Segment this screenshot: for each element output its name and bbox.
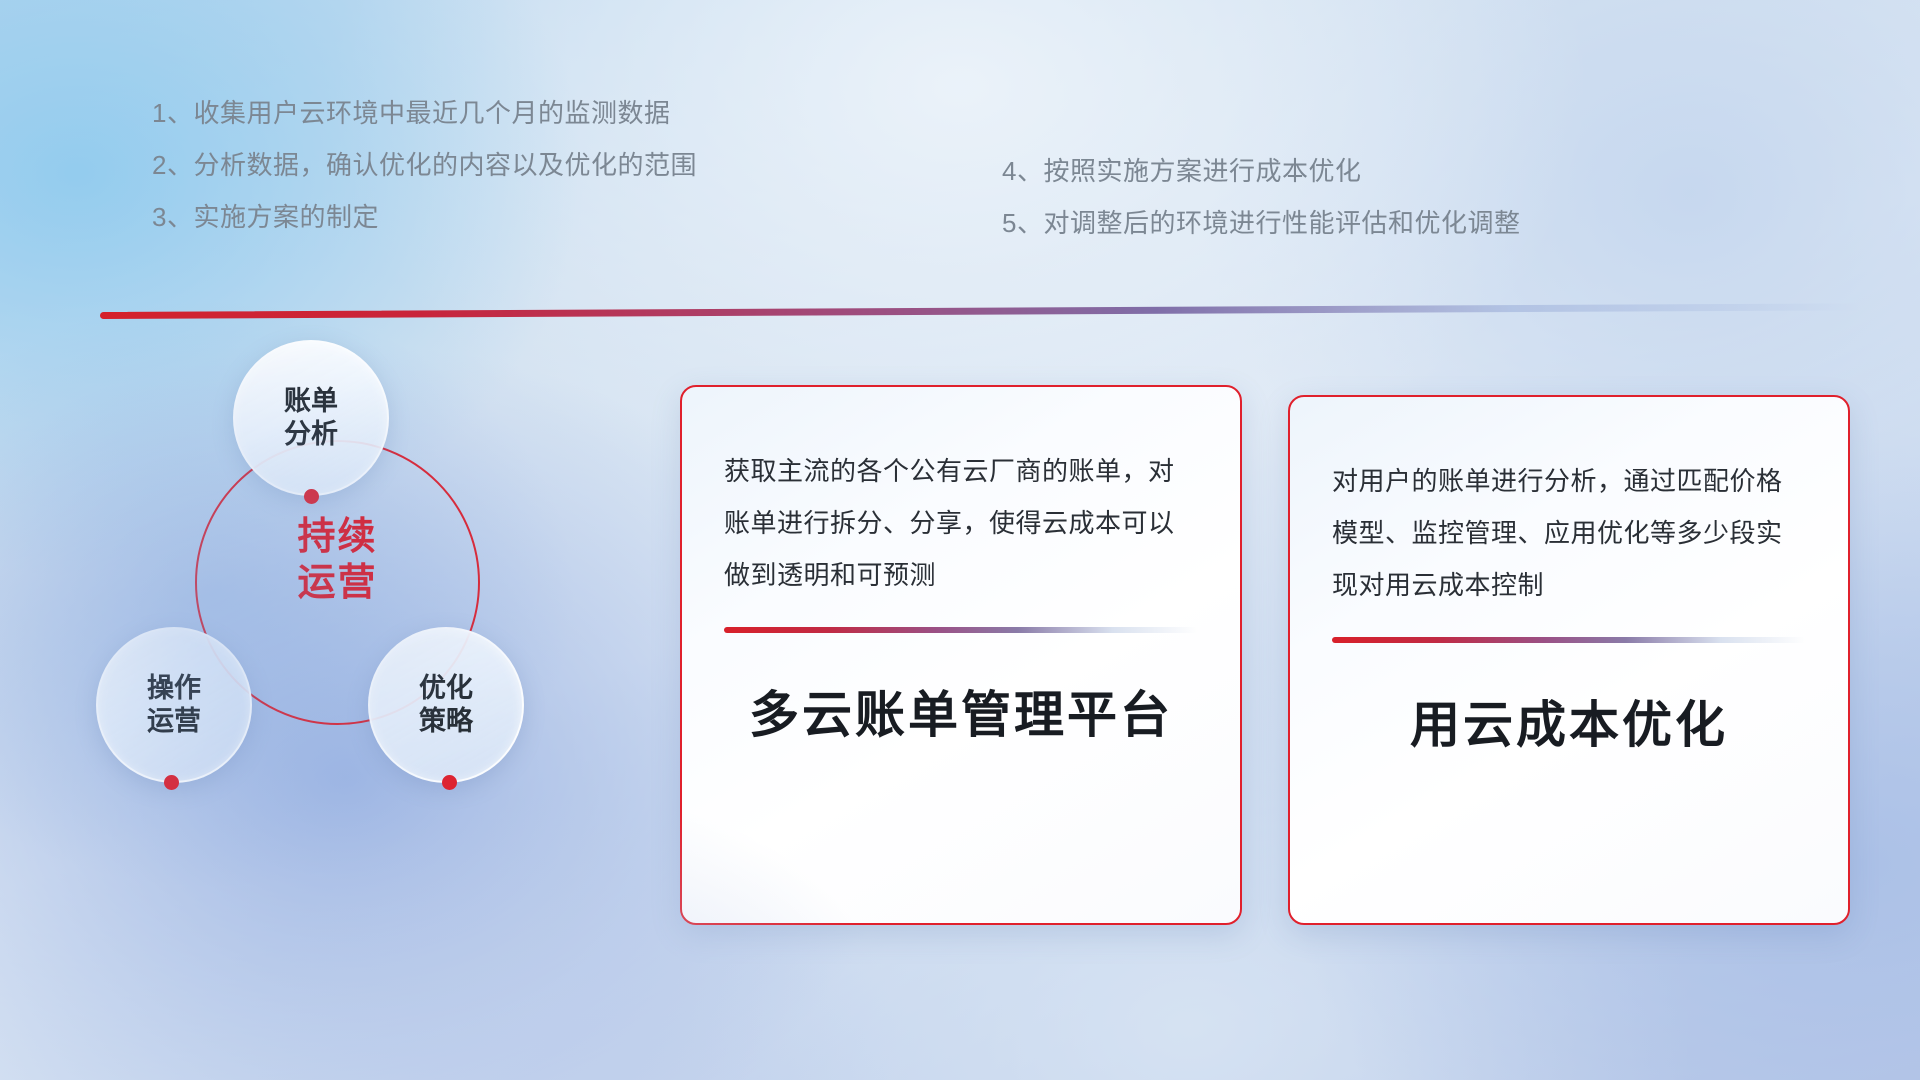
- venn-bubble-right-line-1: 优化: [419, 672, 473, 705]
- feature-card-1-rule: [724, 627, 1198, 633]
- steps-list-right: 4、按照实施方案进行成本优化 5、对调整后的环境进行性能评估和优化调整: [1002, 158, 1520, 262]
- continuous-operation-venn-diagram: 持续 运营 账单 分析 操作 运营 优化 策略: [90, 340, 560, 800]
- venn-node-dot-top-icon: [304, 489, 319, 504]
- section-divider-rule: [100, 303, 1860, 319]
- venn-bubble-left-line-1: 操作: [147, 672, 201, 705]
- feature-card-2-rule: [1332, 637, 1806, 643]
- venn-center-label: 持续 运营: [195, 515, 480, 606]
- step-item-1: 1、收集用户云环境中最近几个月的监测数据: [152, 100, 697, 126]
- venn-bubble-left-line-2: 运营: [147, 705, 201, 738]
- venn-bubble-top-line-1: 账单: [284, 385, 338, 418]
- venn-node-dot-right-icon: [442, 775, 457, 790]
- feature-card-2-body: 对用户的账单进行分析，通过匹配价格模型、监控管理、应用优化等多少段实现对用云成本…: [1332, 455, 1806, 611]
- venn-bubble-operations[interactable]: 操作 运营: [96, 627, 252, 783]
- step-item-4: 4、按照实施方案进行成本优化: [1002, 158, 1520, 184]
- step-item-2: 2、分析数据，确认优化的内容以及优化的范围: [152, 152, 697, 178]
- step-item-3: 3、实施方案的制定: [152, 204, 697, 230]
- feature-card-2-title: 用云成本优化: [1332, 685, 1806, 757]
- venn-center-line-1: 持续: [195, 515, 480, 561]
- venn-bubble-right-line-2: 策略: [419, 705, 473, 738]
- venn-bubble-bill-analysis[interactable]: 账单 分析: [233, 340, 389, 496]
- venn-bubble-optimization-strategy[interactable]: 优化 策略: [368, 627, 524, 783]
- venn-bubble-top-line-2: 分析: [284, 418, 338, 451]
- venn-node-dot-left-icon: [164, 775, 179, 790]
- feature-card-1-title: 多云账单管理平台: [724, 675, 1198, 747]
- feature-card-cloud-cost-optimization[interactable]: 对用户的账单进行分析，通过匹配价格模型、监控管理、应用优化等多少段实现对用云成本…: [1288, 395, 1850, 925]
- venn-center-line-2: 运营: [195, 561, 480, 607]
- step-item-5: 5、对调整后的环境进行性能评估和优化调整: [1002, 210, 1520, 236]
- feature-card-1-body: 获取主流的各个公有云厂商的账单，对账单进行拆分、分享，使得云成本可以做到透明和可…: [724, 445, 1198, 601]
- slide-canvas: 1、收集用户云环境中最近几个月的监测数据 2、分析数据，确认优化的内容以及优化的…: [0, 0, 1920, 1080]
- steps-list-left: 1、收集用户云环境中最近几个月的监测数据 2、分析数据，确认优化的内容以及优化的…: [152, 100, 697, 256]
- feature-card-multicloud-billing[interactable]: 获取主流的各个公有云厂商的账单，对账单进行拆分、分享，使得云成本可以做到透明和可…: [680, 385, 1242, 925]
